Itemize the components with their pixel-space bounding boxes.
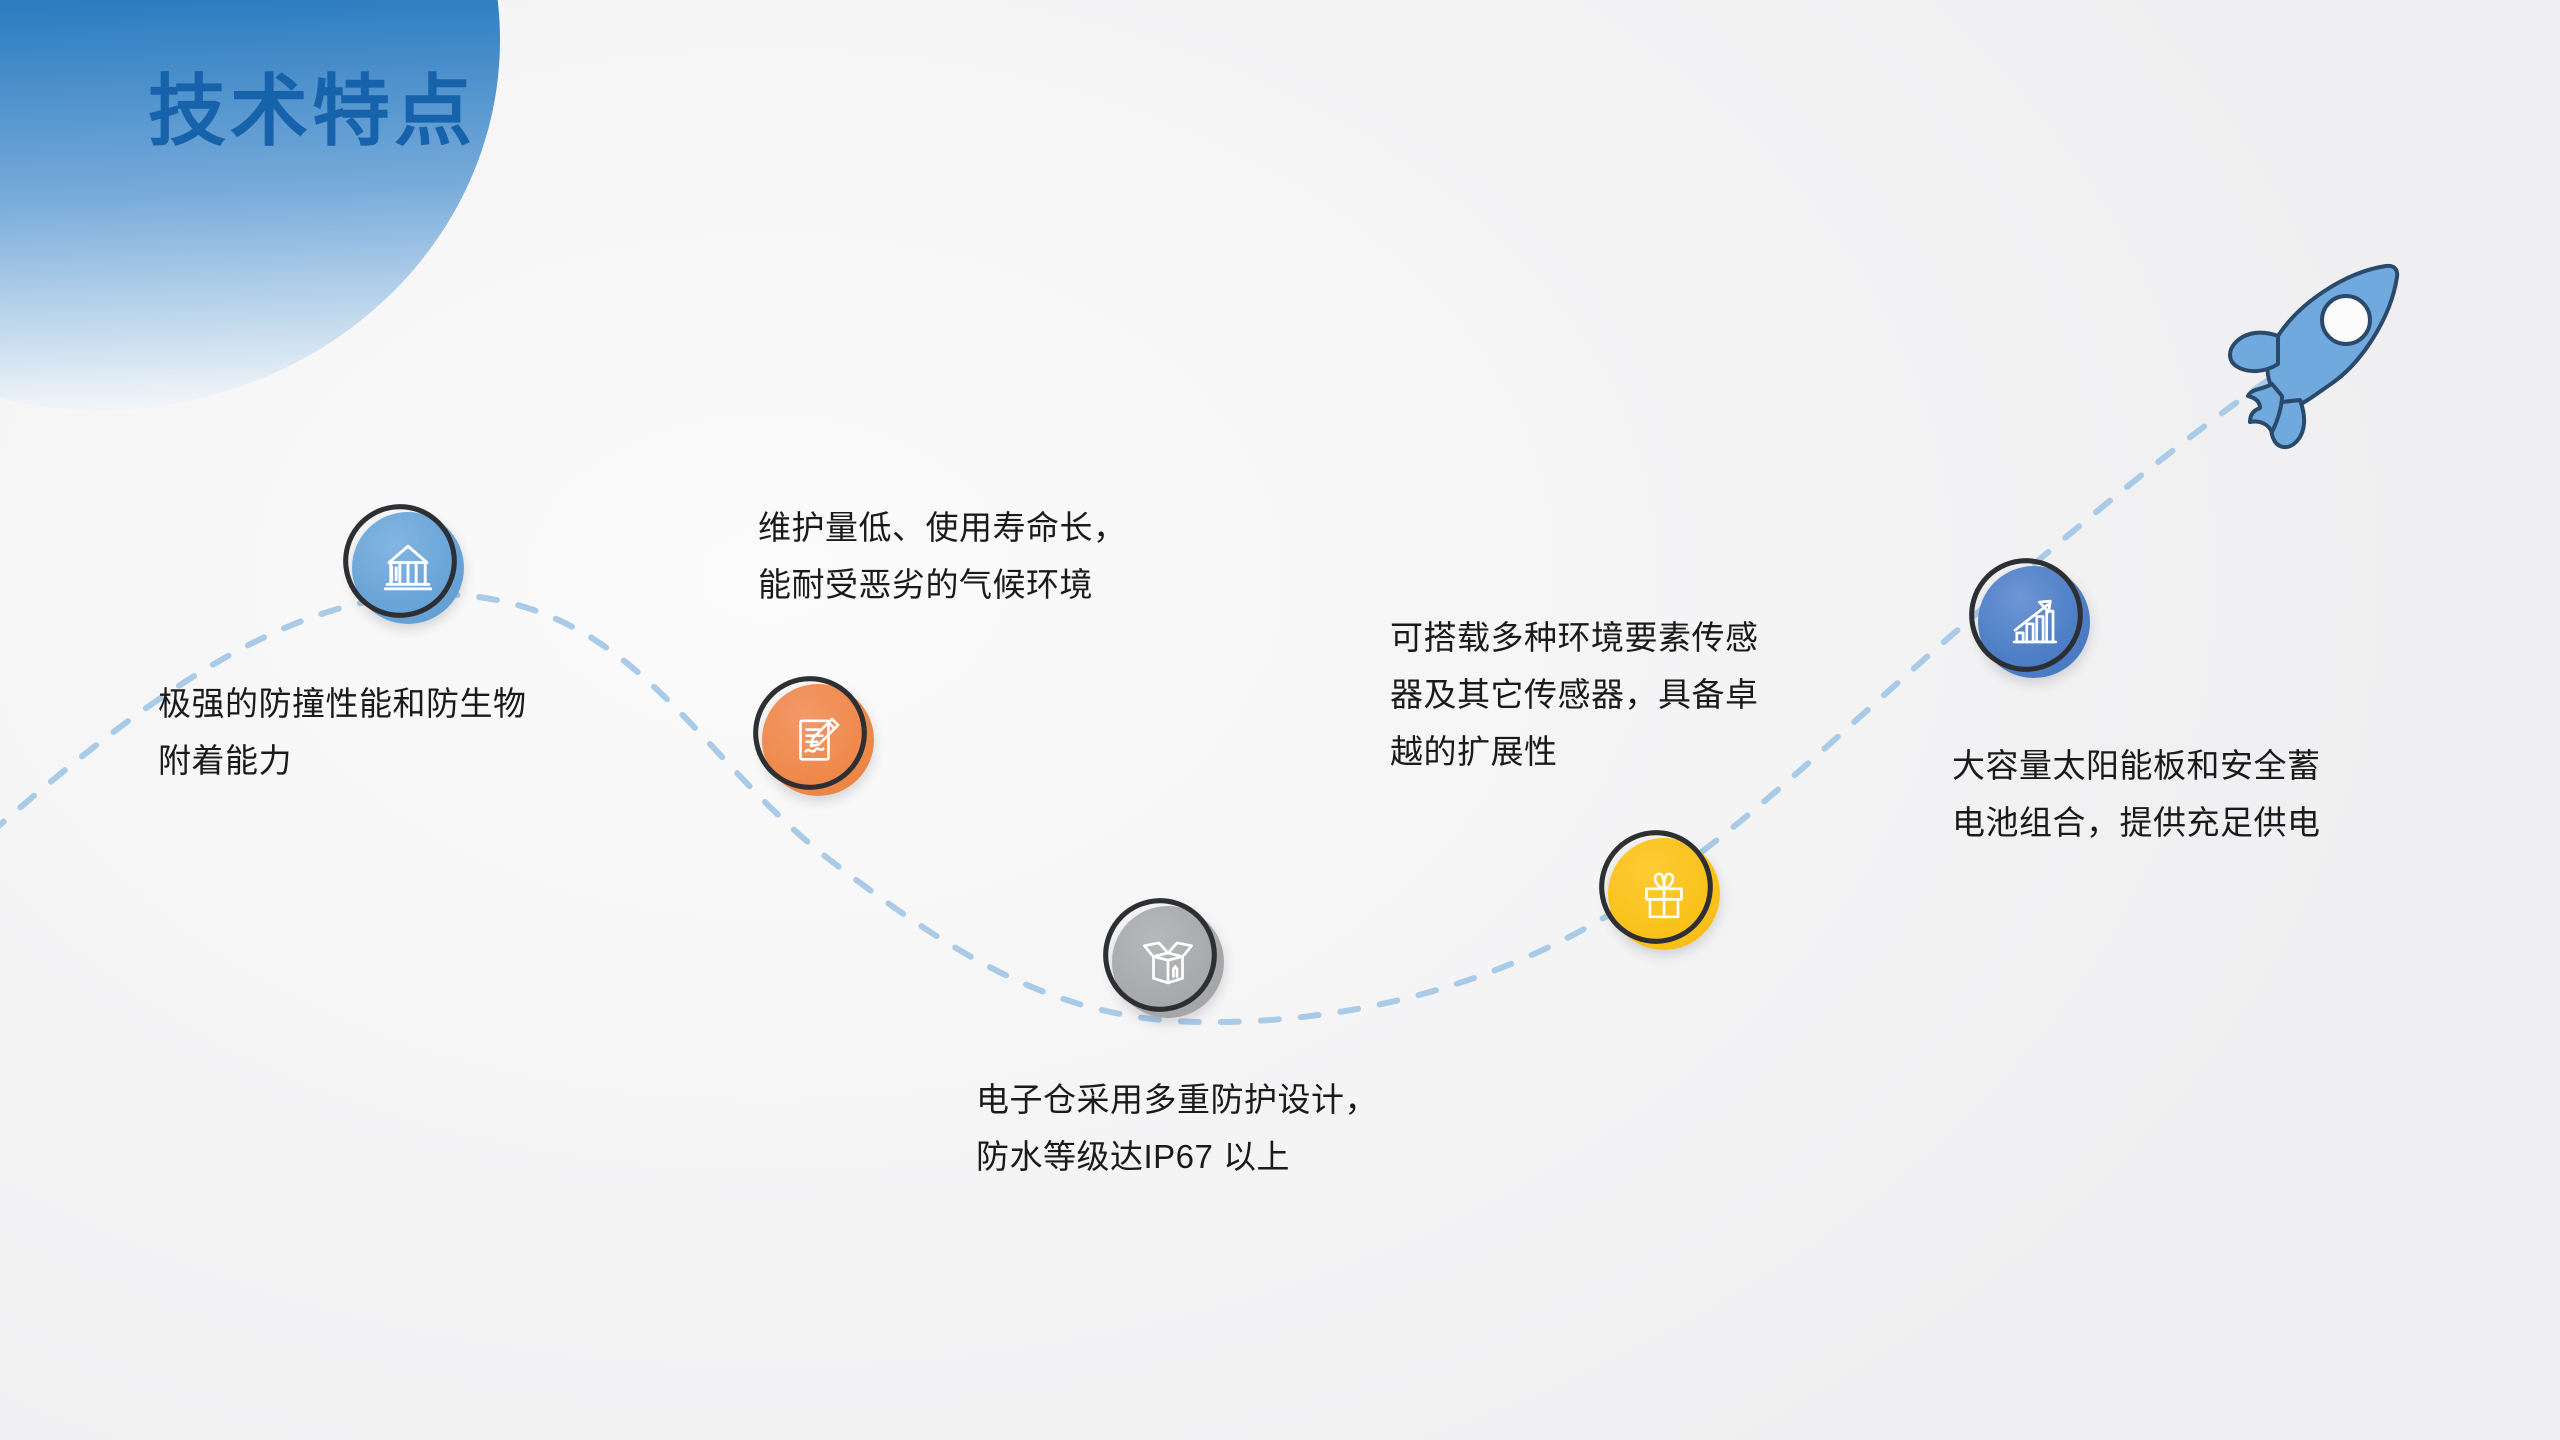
step-caption-2: 维护量低、使用寿命长， 能耐受恶劣的气候环境 <box>758 500 1278 614</box>
step-node-2[interactable] <box>762 684 874 796</box>
step-caption-3: 电子仓采用多重防护设计， 防水等级达IP67 以上 <box>976 1072 1536 1186</box>
step-node-4[interactable] <box>1608 838 1720 950</box>
open-box-icon <box>1112 906 1224 1018</box>
gift-box-icon <box>1608 838 1720 950</box>
slide-canvas: 技术特点 极强的防撞性能和防生物 附着能力 <box>0 0 2560 1440</box>
bank-building-icon <box>352 512 464 624</box>
step-caption-5: 大容量太阳能板和安全蓄 电池组合，提供充足供电 <box>1952 738 2492 852</box>
step-node-3[interactable] <box>1112 906 1224 1018</box>
rocket-icon <box>2212 250 2442 460</box>
step-caption-1: 极强的防撞性能和防生物 附着能力 <box>158 676 678 790</box>
step-node-5[interactable] <box>1978 566 2090 678</box>
page-title: 技术特点 <box>148 72 476 150</box>
growth-bar-chart-icon <box>1978 566 2090 678</box>
document-pencil-icon <box>762 684 874 796</box>
step-caption-4: 可搭载多种环境要素传感 器及其它传感器，具备卓 越的扩展性 <box>1390 610 1910 780</box>
corner-blob-decoration <box>0 0 500 410</box>
step-node-1[interactable] <box>352 512 464 624</box>
